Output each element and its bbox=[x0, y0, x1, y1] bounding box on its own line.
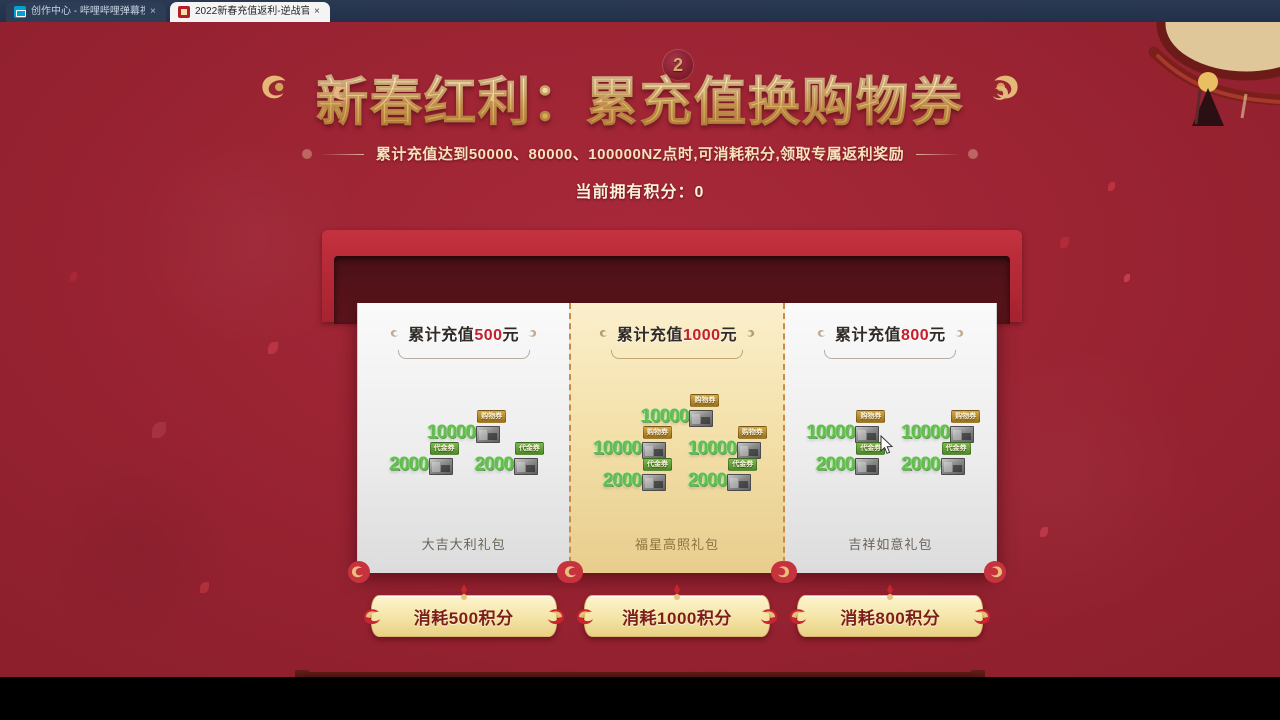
item-row: 10000 购物券 10000 购物券 bbox=[793, 421, 988, 445]
flower-ornament-icon bbox=[559, 559, 585, 585]
card-header-underline bbox=[611, 350, 743, 359]
item-badge: 代金券 bbox=[515, 442, 544, 455]
item-thumbnail bbox=[476, 426, 500, 443]
item-badge: 代金券 bbox=[942, 442, 971, 455]
reward-item[interactable]: 2000 代金券 bbox=[686, 469, 753, 493]
reward-item[interactable]: 2000 代金券 bbox=[899, 453, 966, 477]
card-header: 累计充值1000元 bbox=[598, 321, 756, 345]
browser-tab-title: 2022新春充值返利-逆战官方网站 bbox=[195, 2, 309, 22]
petal-decoration bbox=[1124, 274, 1130, 282]
item-thumbnail bbox=[727, 474, 751, 491]
redeem-buttons: 消耗500积分 消耗1000积分 消耗800积分 bbox=[357, 588, 997, 644]
flower-ornament-icon bbox=[784, 602, 814, 632]
item-badge: 购物券 bbox=[643, 426, 672, 439]
item-badge: 购物券 bbox=[951, 410, 980, 423]
page-subtitle: 累计充值达到50000、80000、100000NZ点时,可消耗积分,领取专属返… bbox=[376, 143, 904, 164]
flower-ornament-icon bbox=[254, 66, 296, 108]
card-title: 累计充值500元 bbox=[408, 321, 519, 345]
flower-ornament-icon bbox=[966, 602, 996, 632]
item-value: 2000 bbox=[389, 454, 427, 476]
item-badge: 代金券 bbox=[430, 442, 459, 455]
knot-ornament-icon bbox=[816, 327, 829, 340]
item-row: 2000 代金券 2000 代金券 bbox=[579, 469, 774, 493]
card-title: 累计充值1000元 bbox=[617, 321, 737, 345]
header: 新春红利：累充值换购物券 累计充值达到50000、80000、100000NZ点… bbox=[0, 60, 1280, 164]
reward-card-2[interactable]: 累计充值800元 10000 购物券 10000 购物券 bbox=[785, 303, 997, 573]
flower-ornament-icon bbox=[346, 559, 372, 585]
item-value: 10000 bbox=[641, 406, 689, 428]
knot-ornament-icon bbox=[456, 584, 472, 602]
petal-decoration bbox=[1060, 237, 1069, 248]
page-title: 新春红利：累充值换购物券 bbox=[302, 60, 978, 135]
petal-decoration bbox=[152, 422, 166, 438]
item-value: 2000 bbox=[475, 454, 513, 476]
card-header: 累计充值800元 bbox=[816, 321, 965, 345]
close-icon[interactable]: × bbox=[150, 7, 160, 17]
item-thumbnail bbox=[737, 442, 761, 459]
card-package-name: 大吉大利礼包 bbox=[358, 534, 569, 573]
reward-item[interactable]: 2000 代金券 bbox=[387, 453, 454, 477]
item-row: 10000 购物券 bbox=[579, 405, 774, 429]
knot-ornament-icon bbox=[525, 327, 538, 340]
current-points: 当前拥有积分：0 bbox=[0, 178, 1280, 202]
reward-item[interactable]: 2000 代金券 bbox=[814, 453, 881, 477]
card-amount: 800 bbox=[901, 327, 929, 344]
redeem-button-wrap-2: 消耗800积分 bbox=[784, 588, 997, 644]
card-amount: 1000 bbox=[683, 327, 721, 344]
item-row: 2000 代金券 2000 代金券 bbox=[366, 453, 561, 477]
item-row: 10000 购物券 10000 购物券 bbox=[579, 437, 774, 461]
item-thumbnail bbox=[514, 458, 538, 475]
flower-ornament-icon bbox=[540, 602, 570, 632]
item-thumbnail bbox=[941, 458, 965, 475]
redeem-button-1[interactable]: 消耗1000积分 bbox=[584, 595, 770, 637]
page-subtitle-text: 累计充值达到50000、80000、100000NZ点时,可消耗积分,领取专属返… bbox=[376, 146, 904, 163]
bilibili-icon bbox=[14, 6, 26, 18]
item-badge: 购物券 bbox=[477, 410, 506, 423]
item-value: 2000 bbox=[688, 470, 726, 492]
bar-cap-right bbox=[971, 670, 985, 677]
item-value: 10000 bbox=[427, 422, 475, 444]
flower-ornament-icon bbox=[982, 559, 1008, 585]
knot-ornament-icon bbox=[669, 584, 685, 602]
reward-card-1[interactable]: 累计充值1000元 10000 购物券 10000 购 bbox=[569, 303, 784, 573]
item-thumbnail bbox=[855, 426, 879, 443]
browser-tab-title: 创作中心 - 哔哩哔哩弹幕视频网 bbox=[31, 2, 145, 22]
item-thumbnail bbox=[855, 458, 879, 475]
item-row: 10000 购物券 bbox=[366, 421, 561, 445]
reward-item[interactable]: 10000 购物券 bbox=[639, 405, 716, 429]
card-package-name: 福星高照礼包 bbox=[571, 534, 782, 573]
item-value: 10000 bbox=[901, 422, 949, 444]
card-amount: 500 bbox=[474, 327, 502, 344]
card-header: 累计充值500元 bbox=[389, 321, 538, 345]
item-thumbnail bbox=[950, 426, 974, 443]
redeem-button-label: 消耗800积分 bbox=[840, 604, 940, 629]
card-items: 10000 购物券 10000 购物券 10000 购物券 bbox=[571, 359, 782, 534]
snowflake-icon bbox=[968, 149, 978, 159]
item-value: 2000 bbox=[603, 470, 641, 492]
divider bbox=[320, 154, 364, 155]
redeem-button-wrap-0: 消耗500积分 bbox=[357, 588, 570, 644]
item-badge: 购物券 bbox=[738, 426, 767, 439]
reward-item[interactable]: 10000 购物券 bbox=[686, 437, 763, 461]
petal-decoration bbox=[268, 342, 278, 354]
knot-ornament-icon bbox=[986, 80, 1012, 106]
item-value: 10000 bbox=[593, 438, 641, 460]
item-value: 2000 bbox=[901, 454, 939, 476]
flower-ornament-icon bbox=[571, 602, 601, 632]
knot-ornament-icon bbox=[598, 327, 611, 340]
close-icon[interactable]: × bbox=[314, 7, 324, 17]
reward-item[interactable]: 2000 代金券 bbox=[473, 453, 540, 477]
promo-page: 2 新春红利：累充值换购物券 累 bbox=[0, 22, 1280, 677]
item-value: 10000 bbox=[688, 438, 736, 460]
petal-decoration bbox=[1040, 527, 1048, 537]
bg-texture bbox=[20, 452, 260, 642]
item-badge: 购物券 bbox=[856, 410, 885, 423]
item-badge: 代金券 bbox=[728, 458, 757, 471]
card-header-underline bbox=[398, 350, 530, 359]
card-package-name: 吉祥如意礼包 bbox=[785, 534, 996, 573]
item-value: 10000 bbox=[806, 422, 854, 444]
redeem-button-0[interactable]: 消耗500积分 bbox=[371, 595, 557, 637]
reward-item[interactable]: 10000 购物券 bbox=[899, 421, 976, 445]
knot-ornament-icon bbox=[389, 327, 402, 340]
knot-ornament-icon bbox=[882, 584, 898, 602]
divider bbox=[916, 154, 960, 155]
knot-ornament-icon bbox=[330, 80, 356, 106]
item-value: 2000 bbox=[816, 454, 854, 476]
reward-item[interactable]: 2000 代金券 bbox=[601, 469, 668, 493]
flower-ornament-icon bbox=[769, 559, 795, 585]
knot-ornament-icon bbox=[952, 327, 965, 340]
reward-cards: 累计充值500元 10000 购物券 2000 代金券 bbox=[357, 303, 997, 573]
item-thumbnail bbox=[642, 442, 666, 459]
item-thumbnail bbox=[689, 410, 713, 427]
item-badge: 购物券 bbox=[690, 394, 719, 407]
game-icon bbox=[178, 6, 190, 18]
reward-item[interactable]: 10000 购物券 bbox=[425, 421, 502, 445]
redeem-button-label: 消耗500积分 bbox=[414, 604, 514, 629]
flower-ornament-icon bbox=[753, 602, 783, 632]
item-thumbnail bbox=[429, 458, 453, 475]
browser-tab-strip: 创作中心 - 哔哩哔哩弹幕视频网 × 2022新春充值返利-逆战官方网站 × bbox=[0, 0, 1280, 22]
redeem-button-wrap-1: 消耗1000积分 bbox=[570, 588, 783, 644]
knot-ornament-icon bbox=[743, 327, 756, 340]
card-header-underline bbox=[824, 350, 956, 359]
browser-tab-1[interactable]: 2022新春充值返利-逆战官方网站 × bbox=[170, 2, 330, 22]
flower-ornament-icon bbox=[358, 602, 388, 632]
petal-decoration bbox=[70, 272, 77, 281]
reward-item[interactable]: 10000 购物券 bbox=[591, 437, 668, 461]
item-row: 2000 代金券 2000 代金券 bbox=[793, 453, 988, 477]
petal-decoration bbox=[200, 582, 209, 593]
card-items: 10000 购物券 2000 代金券 2000 代金券 bbox=[358, 359, 569, 534]
reward-card-0[interactable]: 累计充值500元 10000 购物券 2000 代金券 bbox=[357, 303, 569, 573]
letterbox-bottom bbox=[0, 677, 1280, 720]
card-items: 10000 购物券 10000 购物券 2000 代金券 bbox=[785, 359, 996, 534]
bottom-ornament-bar bbox=[295, 670, 985, 677]
redeem-button-2[interactable]: 消耗800积分 bbox=[797, 595, 983, 637]
item-thumbnail bbox=[642, 474, 666, 491]
card-title: 累计充值800元 bbox=[835, 321, 946, 345]
snowflake-icon bbox=[302, 149, 312, 159]
browser-tab-0[interactable]: 创作中心 - 哔哩哔哩弹幕视频网 × bbox=[6, 2, 166, 22]
reward-item[interactable]: 10000 购物券 bbox=[804, 421, 881, 445]
redeem-button-label: 消耗1000积分 bbox=[622, 604, 732, 629]
item-badge: 代金券 bbox=[643, 458, 672, 471]
item-badge: 代金券 bbox=[856, 442, 885, 455]
